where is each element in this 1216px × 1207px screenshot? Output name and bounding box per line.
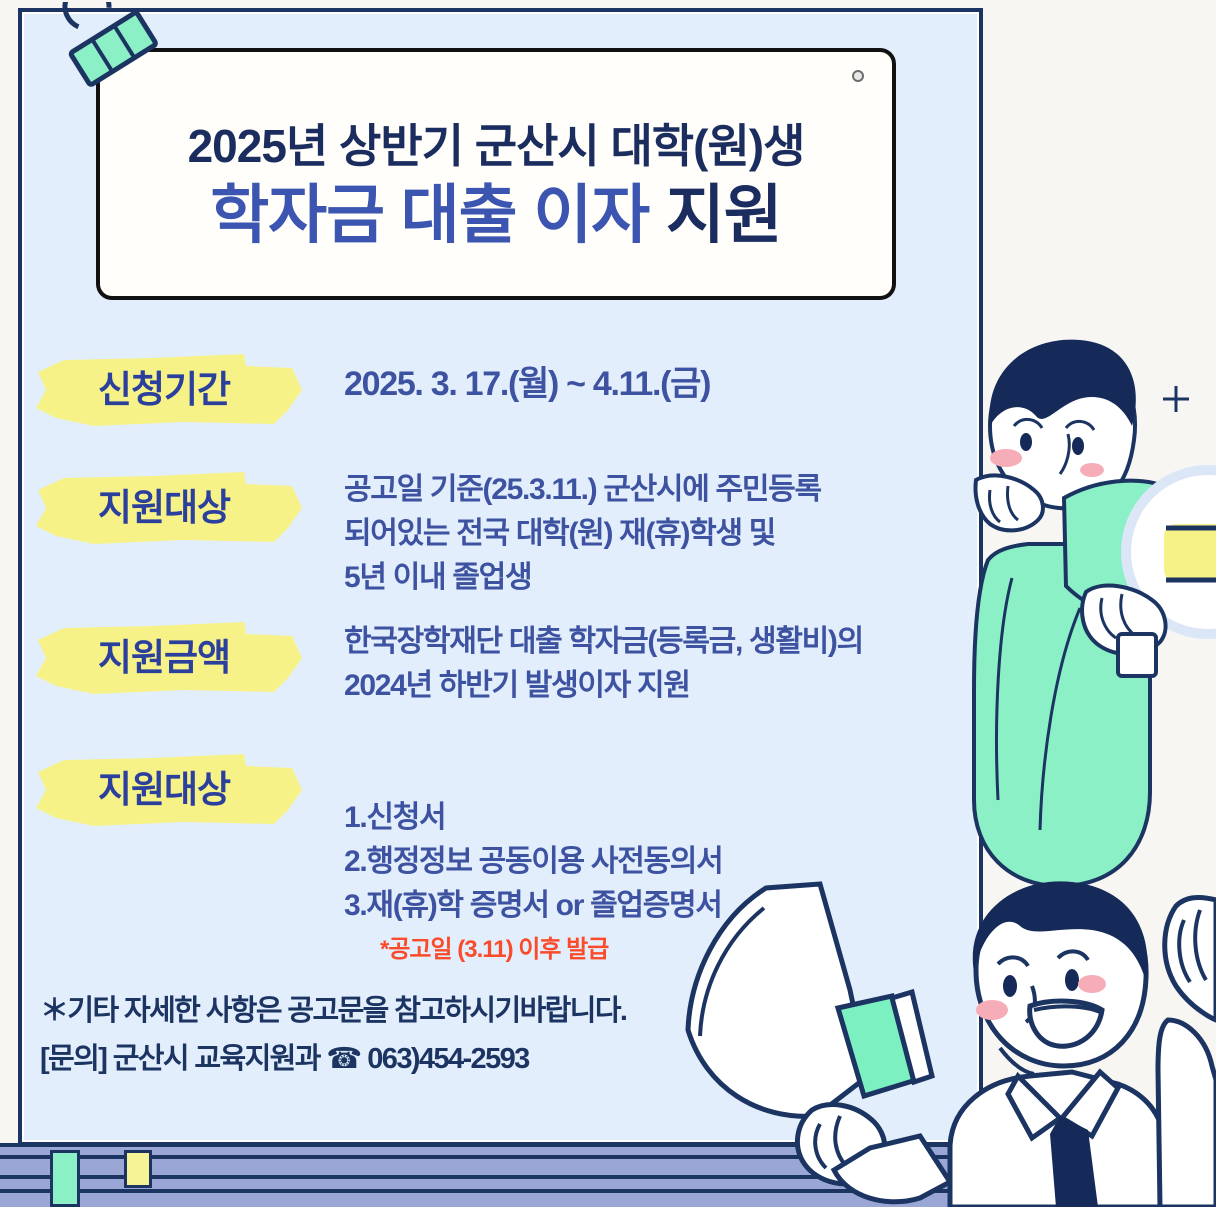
- wall-background: [983, 0, 1216, 1207]
- footer-notes: ＊기타 자세한 사항은 공고문을 참고하시기바랍니다. [문의] 군산시 교육지…: [40, 988, 740, 1084]
- documents-list: 1.신청서 2.행정정보 공동이용 사전동의서 3.재(휴)학 증명서 or 졸…: [344, 801, 722, 922]
- badge-support-amount: 지원금액: [34, 620, 324, 696]
- info-row-body: 1.신청서 2.행정정보 공동이용 사전동의서 3.재(휴)학 증명서 or 졸…: [344, 752, 944, 1012]
- badge-eligibility: 지원대상: [34, 470, 324, 546]
- yellow-magnet: [124, 1150, 152, 1188]
- hole-punch-icon: [852, 70, 864, 82]
- badge-label: 지원대상: [34, 752, 294, 828]
- poster-title-line2: 학자금 대출 이자 지원: [100, 164, 892, 256]
- title-card: 2025년 상반기 군산시 대학(원)생 학자금 대출 이자 지원: [96, 48, 896, 300]
- poster-title-line2-part1: 학자금 대출 이자: [210, 179, 666, 251]
- badge-label: 신청기간: [34, 352, 294, 428]
- info-row-body: 공고일 기준(25.3.11.) 군산시에 주민등록 되어있는 전국 대학(원)…: [344, 468, 944, 600]
- poster-title-line2-part2: 지원: [666, 179, 782, 251]
- documents-note: *공고일 (3.11) 이후 발급: [344, 932, 944, 967]
- badge-label: 지원대상: [34, 470, 294, 546]
- poster-stage: 2025년 상반기 군산시 대학(원)생 학자금 대출 이자 지원 신청기간 2…: [0, 0, 1216, 1207]
- footer-line-2: [문의] 군산시 교육지원과 ☎ 063)454-2593: [40, 1036, 740, 1084]
- info-row-body: 2025. 3. 17.(월) ~ 4.11.(금): [344, 360, 944, 410]
- ledge-line-3: [0, 1189, 983, 1193]
- footer-line-1: ＊기타 자세한 사항은 공고문을 참고하시기바랍니다.: [40, 988, 740, 1036]
- info-row-body: 한국장학재단 대출 학자금(등록금, 생활비)의 2024년 하반기 발생이자 …: [344, 620, 944, 708]
- badge-documents: 지원대상: [34, 752, 324, 828]
- badge-application-period: 신청기간: [34, 352, 324, 428]
- binder-clip-icon: [55, 2, 175, 112]
- mint-magnet: [50, 1150, 80, 1207]
- badge-label: 지원금액: [34, 620, 294, 696]
